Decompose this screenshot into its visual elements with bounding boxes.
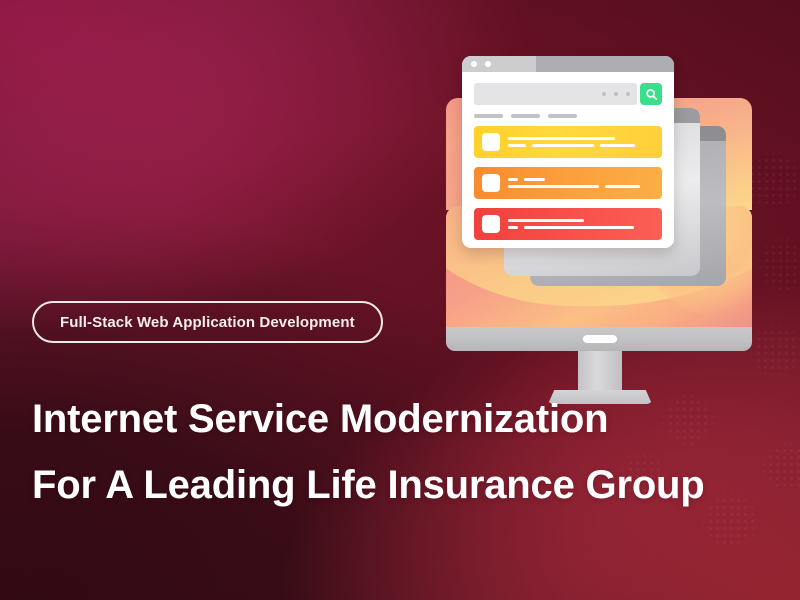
hero-illustration	[438, 38, 762, 378]
text-line	[508, 137, 615, 140]
text-line	[508, 178, 518, 181]
text-line-row	[508, 185, 654, 188]
list-item-text	[508, 219, 654, 229]
page-title: Internet Service Modernization For A Lea…	[32, 386, 732, 518]
search-icon	[645, 88, 658, 101]
tab-bar-3[interactable]	[548, 114, 577, 118]
category-badge: Full-Stack Web Application Development	[32, 301, 383, 343]
text-line-row	[508, 226, 654, 229]
text-line-row	[508, 144, 654, 147]
text-line	[532, 144, 595, 147]
case-study-banner: Full-Stack Web Application Development I…	[0, 0, 800, 600]
monitor-led-indicator	[583, 335, 617, 343]
text-line-row	[508, 178, 654, 181]
search-button[interactable]	[640, 83, 662, 105]
text-line	[524, 226, 634, 229]
tab-bar-2[interactable]	[511, 114, 540, 118]
window-title-bar-segment	[536, 56, 674, 72]
checkbox-icon[interactable]	[482, 174, 500, 192]
list-item[interactable]	[474, 126, 662, 158]
search-dot-icon-1	[602, 92, 606, 96]
checkbox-icon[interactable]	[482, 215, 500, 233]
search-input[interactable]	[474, 83, 637, 105]
headline-line-2: For A Leading Life Insurance Group	[32, 452, 732, 518]
headline-line-1: Internet Service Modernization	[32, 386, 732, 452]
text-line	[605, 185, 640, 188]
text-line	[508, 219, 584, 222]
text-line	[508, 185, 599, 188]
tab-bar-group	[474, 114, 662, 118]
checkbox-icon[interactable]	[482, 133, 500, 151]
window-title-bar-front	[462, 56, 674, 72]
window-dot-icon-2[interactable]	[485, 61, 491, 67]
list-item-text	[508, 178, 654, 188]
list-item-text	[508, 137, 654, 147]
category-badge-label: Full-Stack Web Application Development	[60, 314, 355, 331]
text-line	[524, 178, 544, 181]
text-line	[508, 144, 526, 147]
search-dot-icon-3	[626, 92, 630, 96]
text-line	[600, 144, 635, 147]
tab-bar-1[interactable]	[474, 114, 503, 118]
search-row	[474, 83, 662, 105]
search-dot-icon-2	[614, 92, 618, 96]
text-line	[508, 226, 518, 229]
window-dot-icon-1[interactable]	[471, 61, 477, 67]
list-item[interactable]	[474, 167, 662, 199]
list-item[interactable]	[474, 208, 662, 240]
browser-window-front[interactable]	[462, 56, 674, 248]
window-content	[462, 72, 674, 248]
